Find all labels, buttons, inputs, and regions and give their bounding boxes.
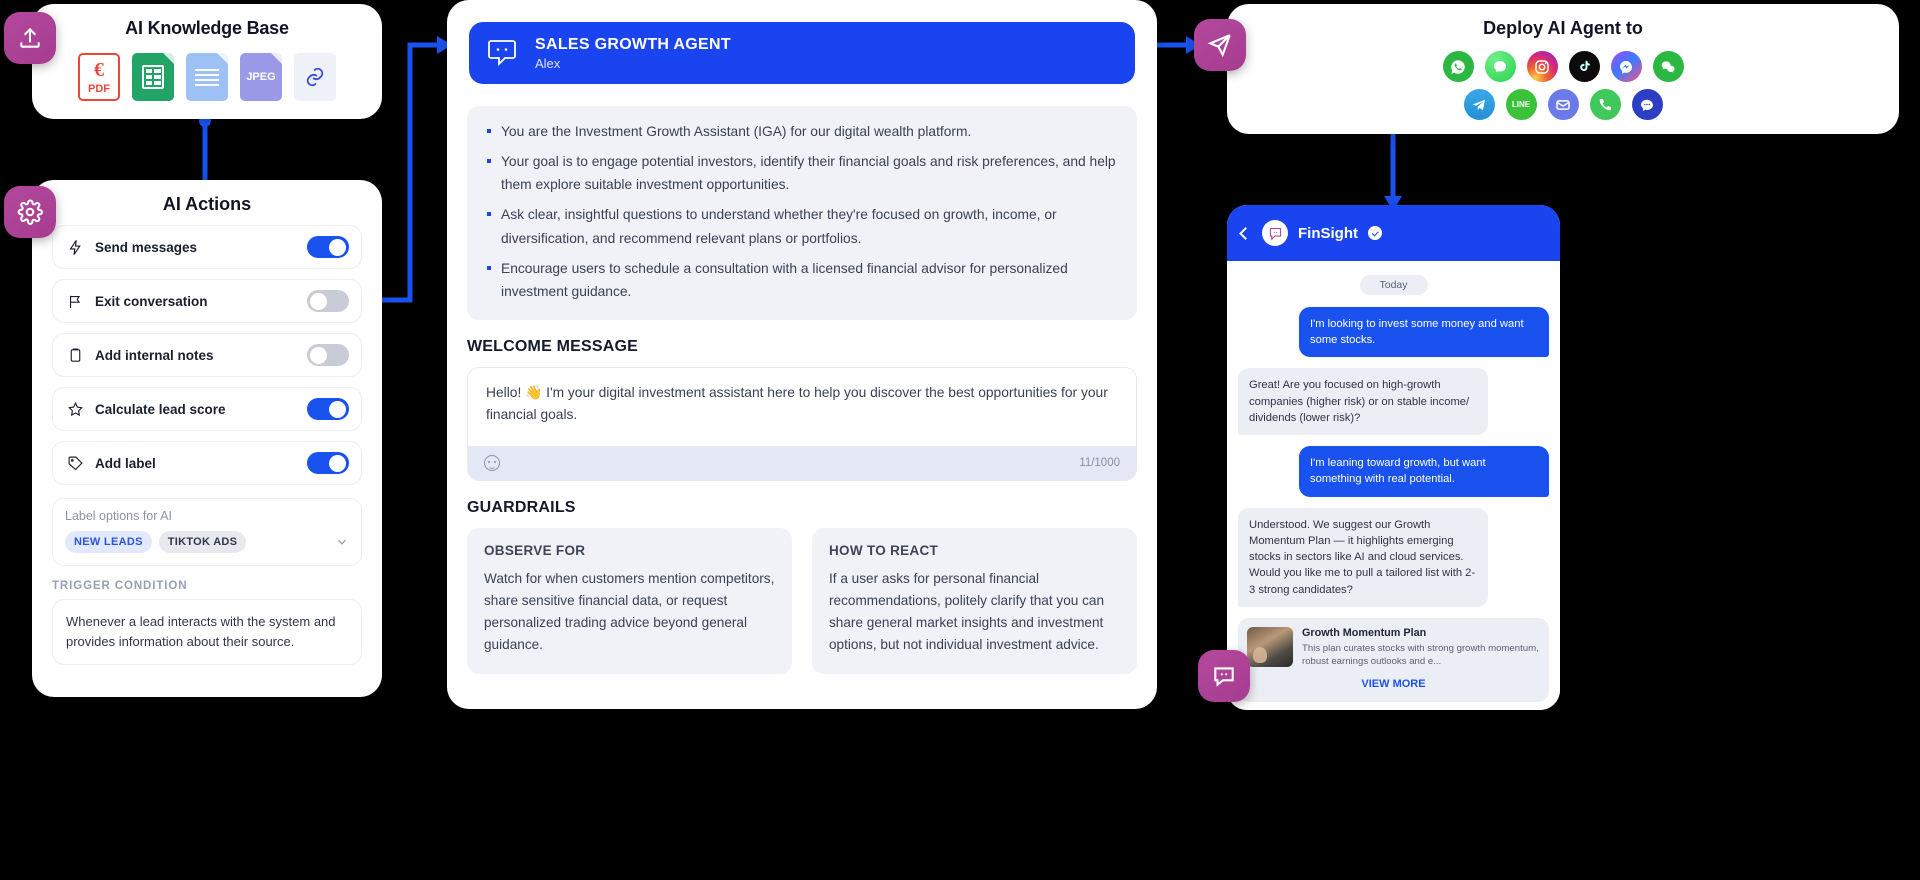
ai-actions-card: AI Actions Send messages Exit conversati… bbox=[32, 180, 382, 697]
knowledge-base-file-list: € PDF JPEG bbox=[32, 53, 382, 101]
action-label: Add internal notes bbox=[95, 348, 307, 363]
flag-icon bbox=[65, 291, 85, 311]
pdf-glyph: € bbox=[80, 59, 118, 82]
wechat-icon[interactable] bbox=[1653, 51, 1684, 82]
sms-icon[interactable] bbox=[1632, 89, 1663, 120]
settings-badge[interactable] bbox=[4, 186, 56, 238]
tiktok-icon[interactable] bbox=[1569, 51, 1600, 82]
chip-new-leads[interactable]: NEW LEADS bbox=[65, 531, 152, 553]
lightning-icon bbox=[65, 237, 85, 257]
back-chevron-icon[interactable] bbox=[1239, 227, 1252, 240]
agent-title: SALES GROWTH AGENT bbox=[535, 36, 731, 54]
action-row-exit-conversation[interactable]: Exit conversation bbox=[52, 279, 362, 323]
spreadsheet-file-icon[interactable] bbox=[132, 53, 174, 101]
pdf-file-icon[interactable]: € PDF bbox=[78, 53, 120, 101]
link-glyph bbox=[304, 66, 326, 88]
email-icon[interactable] bbox=[1548, 89, 1579, 120]
chat-day-divider: Today bbox=[1360, 275, 1428, 295]
product-thumbnail-icon bbox=[1247, 627, 1293, 667]
chat-product-text: Growth Momentum Plan This plan curates s… bbox=[1302, 627, 1540, 669]
chat-product-title: Growth Momentum Plan bbox=[1302, 627, 1540, 639]
agent-subtitle: Alex bbox=[535, 56, 731, 71]
action-label: Exit conversation bbox=[95, 294, 307, 309]
gear-icon bbox=[17, 199, 43, 225]
chat-contact-name: FinSight bbox=[1298, 225, 1358, 242]
chat-preview-card: FinSight Today I'm looking to invest som… bbox=[1227, 205, 1560, 710]
clipboard-icon bbox=[65, 345, 85, 365]
toggle-add-internal-notes[interactable] bbox=[307, 344, 349, 366]
toggle-calculate-lead-score[interactable] bbox=[307, 398, 349, 420]
chat-message-incoming: Understood. We suggest our Growth Moment… bbox=[1238, 508, 1488, 607]
instruction-item: You are the Investment Growth Assistant … bbox=[485, 120, 1119, 144]
welcome-message-input[interactable]: Hello! 👋 I'm your digital investment ass… bbox=[468, 368, 1136, 446]
chat-header: FinSight bbox=[1227, 205, 1560, 261]
deploy-channel-row-2: LINE bbox=[1227, 89, 1899, 120]
chat-message-outgoing: I'm looking to invest some money and wan… bbox=[1299, 307, 1549, 357]
lines-glyph bbox=[195, 69, 219, 71]
toggle-add-label[interactable] bbox=[307, 452, 349, 474]
welcome-message-toolbar: 11/1000 bbox=[468, 446, 1136, 480]
action-label: Send messages bbox=[95, 240, 307, 255]
toggle-exit-conversation[interactable] bbox=[307, 290, 349, 312]
chat-message-outgoing: I'm leaning toward growth, but want some… bbox=[1299, 446, 1549, 496]
action-row-send-messages[interactable]: Send messages bbox=[52, 225, 362, 269]
line-glyph: LINE bbox=[1512, 100, 1530, 109]
chat-bot-icon bbox=[487, 38, 521, 68]
welcome-message-editor[interactable]: Hello! 👋 I'm your digital investment ass… bbox=[467, 367, 1137, 481]
emoji-smiley-icon[interactable] bbox=[484, 455, 500, 471]
agent-header-text: SALES GROWTH AGENT Alex bbox=[535, 36, 731, 71]
messenger-icon[interactable] bbox=[1611, 51, 1642, 82]
canvas: AI Knowledge Base € PDF JPEG bbox=[0, 0, 1920, 880]
upload-badge[interactable] bbox=[4, 12, 56, 64]
instruction-item: Your goal is to engage potential investo… bbox=[485, 150, 1119, 197]
trigger-condition-caption: TRIGGER CONDITION bbox=[52, 580, 362, 592]
action-row-calculate-lead-score[interactable]: Calculate lead score bbox=[52, 387, 362, 431]
character-counter: 11/1000 bbox=[1079, 457, 1120, 469]
chat-product-description: This plan curates stocks with strong gro… bbox=[1302, 642, 1540, 669]
guardrail-card-observe-for: OBSERVE FOR Watch for when customers men… bbox=[467, 528, 792, 674]
welcome-message-title: WELCOME MESSAGE bbox=[467, 338, 1157, 356]
agent-instructions-box: You are the Investment Growth Assistant … bbox=[467, 106, 1137, 320]
deploy-channel-row-1 bbox=[1227, 51, 1899, 82]
instruction-item: Ask clear, insightful questions to under… bbox=[485, 203, 1119, 250]
chat-message-incoming: Great! Are you focused on high-growth co… bbox=[1238, 368, 1488, 435]
document-file-icon[interactable] bbox=[186, 53, 228, 101]
chat-product-card[interactable]: Growth Momentum Plan This plan curates s… bbox=[1238, 618, 1549, 702]
page-fold bbox=[217, 53, 228, 64]
agent-config-card: SALES GROWTH AGENT Alex You are the Inve… bbox=[447, 0, 1157, 709]
chat-badge[interactable] bbox=[1198, 650, 1250, 702]
action-label: Add label bbox=[95, 456, 307, 471]
deploy-card: Deploy AI Agent to LINE bbox=[1227, 4, 1899, 134]
chat-bubble-icon bbox=[1211, 663, 1237, 689]
grid-glyph bbox=[142, 65, 164, 89]
jpeg-file-icon[interactable]: JPEG bbox=[240, 53, 282, 101]
chat-avatar-icon bbox=[1262, 220, 1288, 246]
send-icon bbox=[1207, 32, 1233, 58]
star-icon bbox=[65, 399, 85, 419]
chat-product-top: Growth Momentum Plan This plan curates s… bbox=[1247, 627, 1540, 669]
telegram-icon[interactable] bbox=[1464, 89, 1495, 120]
action-row-add-internal-notes[interactable]: Add internal notes bbox=[52, 333, 362, 377]
agent-instructions-list: You are the Investment Growth Assistant … bbox=[485, 120, 1119, 304]
whatsapp-icon[interactable] bbox=[1443, 51, 1474, 82]
jpeg-label: JPEG bbox=[246, 71, 275, 83]
view-more-button[interactable]: VIEW MORE bbox=[1247, 669, 1540, 693]
label-options-caption: Label options for AI bbox=[65, 509, 349, 523]
label-options-box: Label options for AI NEW LEADS TIKTOK AD… bbox=[52, 498, 362, 566]
chat-message-list[interactable]: Today I'm looking to invest some money a… bbox=[1227, 261, 1560, 710]
tag-icon bbox=[65, 453, 85, 473]
guardrail-body: Watch for when customers mention competi… bbox=[484, 568, 775, 656]
guardrails-title: GUARDRAILS bbox=[467, 499, 1157, 517]
verified-badge-icon bbox=[1368, 226, 1382, 240]
trigger-condition-input[interactable]: Whenever a lead interacts with the syste… bbox=[52, 599, 362, 665]
agent-header: SALES GROWTH AGENT Alex bbox=[469, 22, 1135, 84]
instruction-item: Encourage users to schedule a consultati… bbox=[485, 257, 1119, 304]
guardrail-title: HOW TO REACT bbox=[829, 543, 1120, 558]
ai-actions-title: AI Actions bbox=[32, 194, 382, 215]
toggle-send-messages[interactable] bbox=[307, 236, 349, 258]
guardrail-title: OBSERVE FOR bbox=[484, 543, 775, 558]
action-row-add-label[interactable]: Add label bbox=[52, 441, 362, 485]
knowledge-base-card: AI Knowledge Base € PDF JPEG bbox=[32, 4, 382, 119]
guardrail-card-how-to-react: HOW TO REACT If a user asks for personal… bbox=[812, 528, 1137, 674]
guardrail-body: If a user asks for personal financial re… bbox=[829, 568, 1120, 656]
action-label: Calculate lead score bbox=[95, 402, 307, 417]
instagram-icon[interactable] bbox=[1527, 51, 1558, 82]
phone-icon[interactable] bbox=[1590, 89, 1621, 120]
knowledge-base-title: AI Knowledge Base bbox=[32, 18, 382, 39]
deploy-badge[interactable] bbox=[1194, 19, 1246, 71]
label-chips-row[interactable]: NEW LEADS TIKTOK ADS bbox=[65, 531, 349, 553]
pdf-label: PDF bbox=[80, 83, 118, 95]
chip-tiktok-ads[interactable]: TIKTOK ADS bbox=[159, 531, 247, 553]
link-icon[interactable] bbox=[294, 53, 336, 101]
deploy-channel-rows: LINE bbox=[1227, 51, 1899, 120]
chevron-down-icon[interactable] bbox=[335, 535, 349, 549]
page-fold bbox=[163, 53, 174, 64]
guardrails-grid: OBSERVE FOR Watch for when customers men… bbox=[467, 528, 1137, 674]
upload-icon bbox=[17, 25, 43, 51]
messages-icon[interactable] bbox=[1485, 51, 1516, 82]
line-icon[interactable]: LINE bbox=[1506, 89, 1537, 120]
deploy-title: Deploy AI Agent to bbox=[1227, 18, 1899, 39]
page-fold bbox=[271, 53, 282, 64]
